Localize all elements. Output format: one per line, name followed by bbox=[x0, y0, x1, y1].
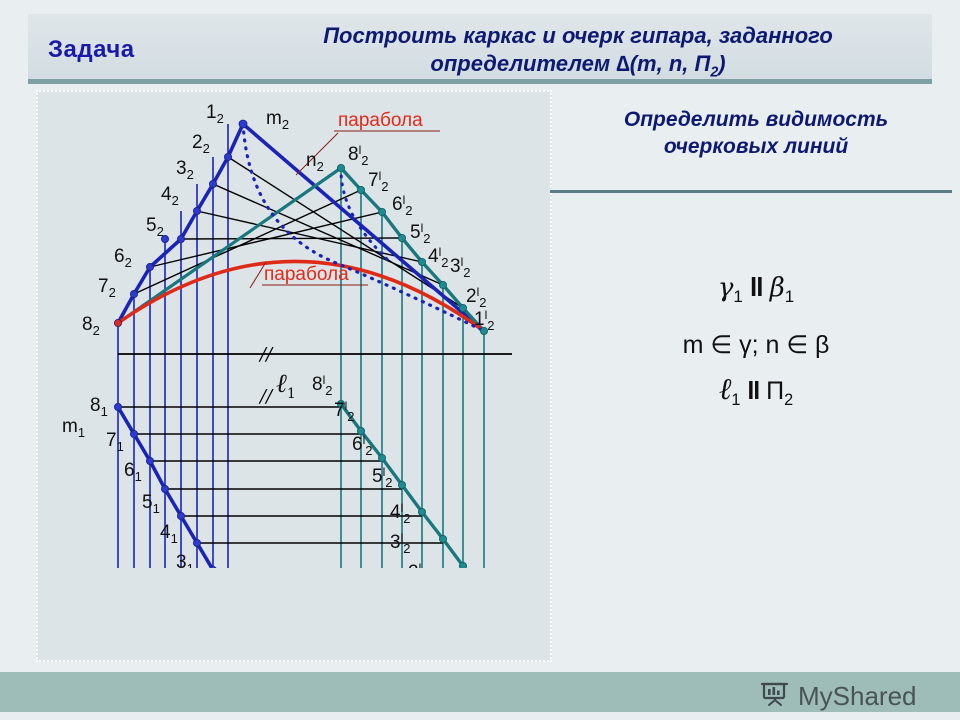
svg-text:2l2: 2l2 bbox=[408, 561, 428, 586]
svg-text:21: 21 bbox=[194, 582, 212, 606]
svg-text:1l2: 1l2 bbox=[416, 589, 436, 614]
svg-text:42: 42 bbox=[161, 184, 179, 208]
parallel-symbol-2: ll bbox=[747, 377, 759, 405]
beta-subscript: 1 bbox=[785, 287, 794, 306]
watermark-label: MyShared bbox=[798, 681, 917, 712]
parallel-tick-lower: // bbox=[258, 386, 274, 407]
svg-text:4l2: 4l2 bbox=[428, 245, 448, 270]
subtitle-line-2: определителем ∆(m, n, П2) bbox=[278, 50, 878, 82]
presentation-chart-icon bbox=[760, 678, 790, 715]
ell-symbol: ℓ bbox=[719, 372, 732, 407]
svg-text:7l2: 7l2 bbox=[368, 169, 388, 194]
gamma-subscript: 1 bbox=[733, 287, 742, 306]
svg-text:51: 51 bbox=[142, 492, 160, 516]
svg-text:3l2: 3l2 bbox=[450, 255, 470, 280]
label-m2: m2 bbox=[266, 108, 289, 132]
beta-symbol: β bbox=[770, 273, 785, 303]
svg-text:6l2: 6l2 bbox=[392, 193, 412, 218]
formula-l-parallel-pi: ℓ1 ll П2 bbox=[560, 372, 952, 410]
label-n1: n1 bbox=[418, 630, 436, 654]
svg-text:8l2: 8l2 bbox=[348, 143, 368, 168]
gamma-symbol: γ bbox=[718, 273, 734, 303]
formula-membership: m ∈ γ; n ∈ β bbox=[560, 330, 952, 360]
callout-parabola-top: парабола bbox=[338, 110, 423, 131]
gamma1-trace bbox=[228, 598, 272, 652]
top-band bbox=[0, 0, 960, 14]
labels-l1-group: 8l2 bbox=[312, 373, 332, 398]
svg-text:7l2: 7l2 bbox=[334, 399, 354, 424]
svg-text:82: 82 bbox=[82, 314, 100, 338]
svg-text:31: 31 bbox=[176, 552, 194, 576]
parallel-symbol-1: ll bbox=[750, 272, 762, 302]
hypar-construction-drawing: парабола парабола // // m2 n2 m1 n1 ℓ1 γ… bbox=[38, 92, 550, 660]
formula-gamma-parallel-beta: γ1 ll β1 bbox=[560, 272, 952, 307]
svg-text:61: 61 bbox=[124, 460, 142, 484]
slide-subtitle: Построить каркас и очерк гипара, заданно… bbox=[278, 22, 878, 82]
svg-text:11: 11 bbox=[210, 612, 228, 636]
label-gamma1: γ1 bbox=[276, 634, 302, 660]
diagram-panel: парабола парабола // // m2 n2 m1 n1 ℓ1 γ… bbox=[36, 90, 552, 662]
slide-header: Задача Построить каркас и очерк гипара, … bbox=[28, 14, 932, 84]
svg-text:4l2: 4l2 bbox=[390, 501, 410, 526]
right-heading-line-2: очерковых линий bbox=[560, 133, 952, 160]
svg-text:62: 62 bbox=[114, 246, 132, 270]
svg-text:1l2: 1l2 bbox=[474, 308, 494, 333]
label-m1: m1 bbox=[62, 416, 85, 440]
label-n2: n2 bbox=[306, 150, 324, 174]
right-panel: Определить видимость очерковых линий γ1 … bbox=[560, 90, 952, 662]
svg-text:52: 52 bbox=[146, 215, 164, 239]
svg-text:81: 81 bbox=[90, 395, 108, 419]
right-panel-heading: Определить видимость очерковых линий bbox=[560, 106, 952, 161]
svg-text:22: 22 bbox=[192, 132, 210, 156]
svg-text:6l2: 6l2 bbox=[352, 433, 372, 458]
parallel-tick-upper: // bbox=[258, 344, 274, 365]
beta1-trace bbox=[484, 593, 520, 645]
subtitle-line-1: Построить каркас и очерк гипара, заданно… bbox=[278, 22, 878, 50]
label-beta1: β1 bbox=[500, 618, 526, 654]
svg-text:12: 12 bbox=[206, 102, 224, 126]
determinant-expr: ∆(m, n, П bbox=[616, 51, 710, 76]
callout-parabola-mid: парабола bbox=[264, 264, 349, 285]
subtitle-line-2-pre: определителем bbox=[430, 51, 616, 76]
pi-symbol: П bbox=[766, 377, 784, 405]
svg-text:2l2: 2l2 bbox=[466, 285, 486, 310]
label-8p2-mid: 8l2 bbox=[312, 373, 332, 398]
ell-subscript: 1 bbox=[731, 391, 740, 409]
myshared-watermark: MyShared bbox=[760, 678, 917, 715]
svg-text:72: 72 bbox=[98, 276, 116, 300]
label-l1: ℓ1 bbox=[276, 369, 296, 402]
right-panel-divider bbox=[550, 190, 952, 193]
page-title: Задача bbox=[48, 36, 135, 64]
generatrices-upper bbox=[118, 124, 484, 331]
labels-n1: 7l2 6l2 5l2 4l2 3l2 2l2 1l2 bbox=[334, 399, 436, 614]
svg-text:71: 71 bbox=[106, 430, 124, 454]
determinant-close: ) bbox=[718, 51, 725, 76]
right-heading-line-1: Определить видимость bbox=[560, 106, 952, 133]
svg-text:41: 41 bbox=[160, 522, 178, 546]
svg-text:3l2: 3l2 bbox=[390, 531, 410, 556]
pi-subscript: 2 bbox=[784, 391, 793, 409]
svg-text:32: 32 bbox=[176, 158, 194, 182]
svg-text:5l2: 5l2 bbox=[410, 221, 430, 246]
